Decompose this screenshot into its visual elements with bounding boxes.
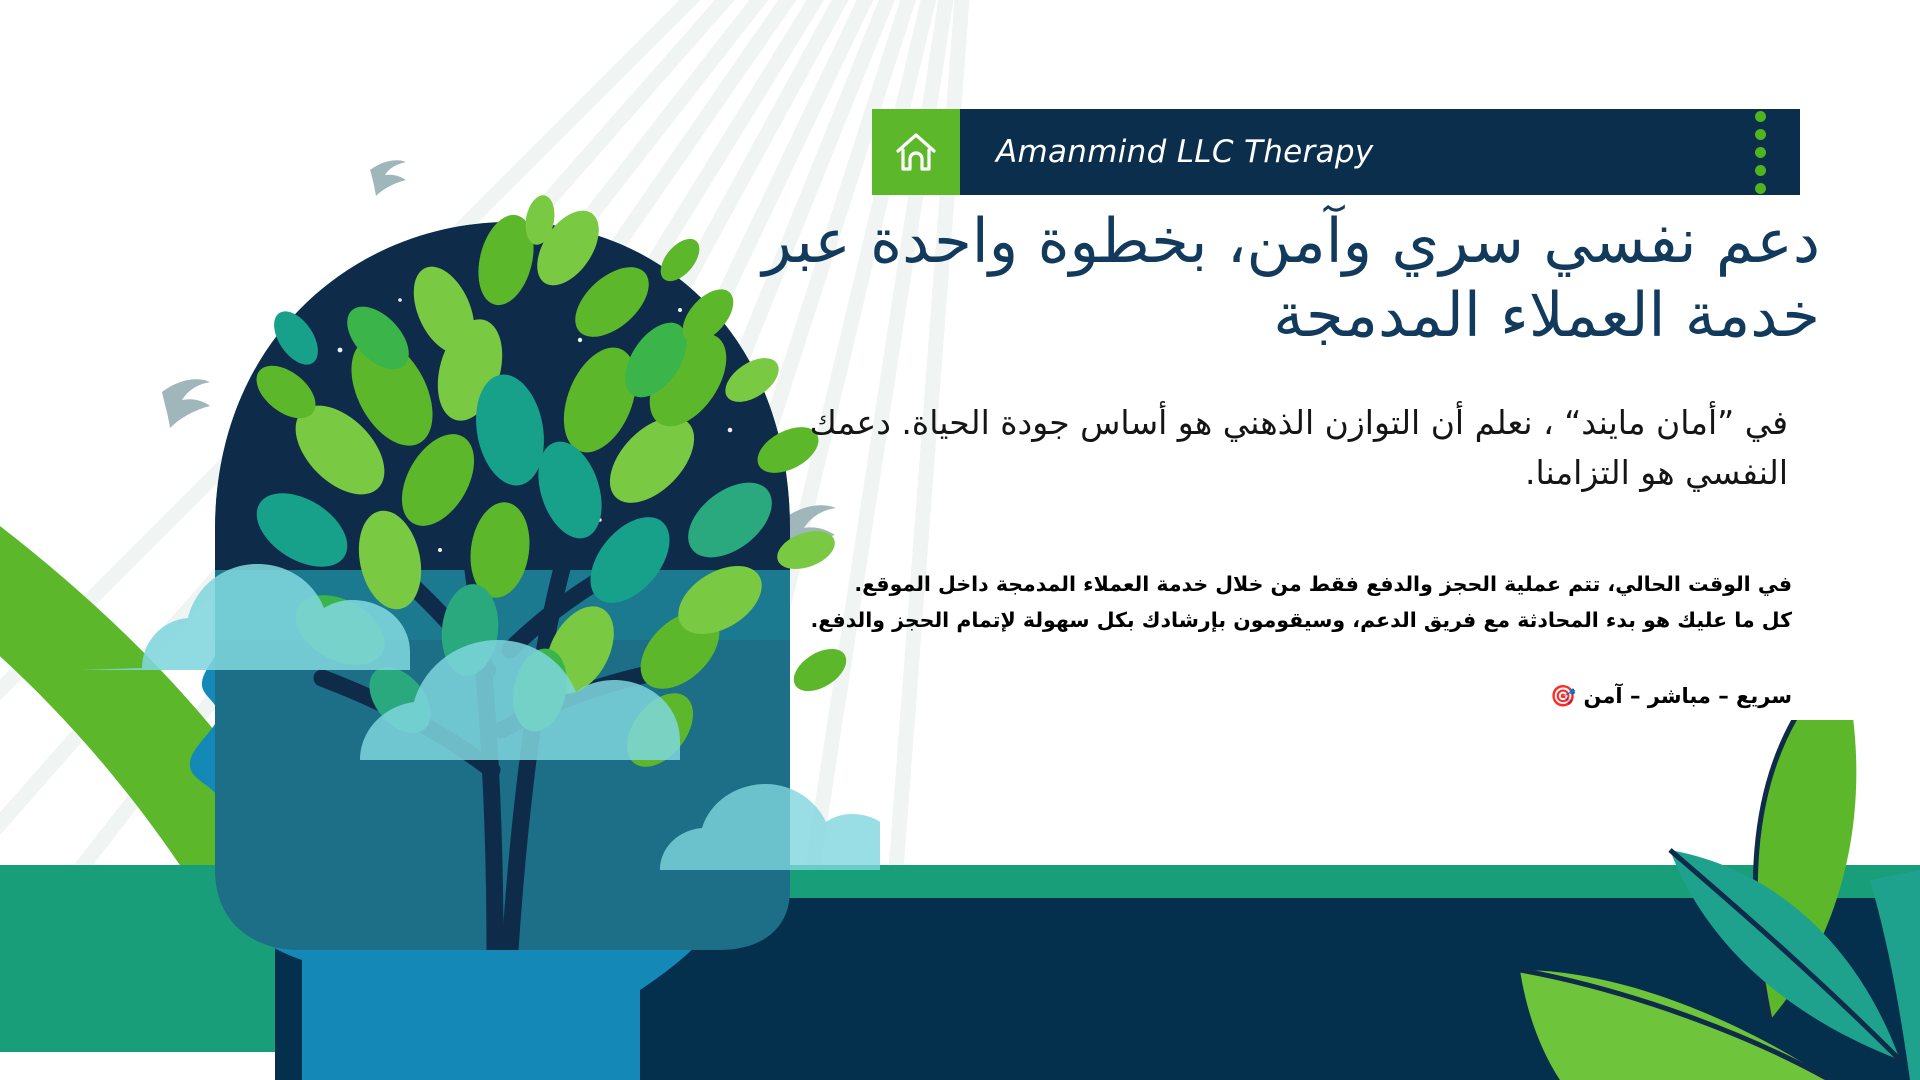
corner-leaves-decoration	[1500, 720, 1920, 1080]
bird-icon	[162, 379, 210, 428]
content-column: دعم نفسي سري وآمن، بخطوة واحدة عبر خدمة …	[730, 205, 1820, 709]
lead-paragraph: في ”أمان مايند“ ، نعلم أن التوازن الذهني…	[730, 398, 1788, 498]
app-header-bar: Amanmind LLC Therapy	[872, 109, 1800, 195]
page-title: دعم نفسي سري وآمن، بخطوة واحدة عبر خدمة …	[730, 205, 1820, 354]
notes-block: في الوقت الحالي، تتم عملية الحجز والدفع …	[730, 568, 1792, 637]
home-icon	[894, 130, 938, 174]
vertical-dots-menu-icon[interactable]	[1755, 111, 1766, 194]
bird-icon	[370, 160, 406, 196]
slide-canvas: Amanmind LLC Therapy دعم نفسي سري وآمن، …	[0, 0, 1920, 1080]
home-button[interactable]	[872, 109, 960, 195]
note-line-2: كل ما عليك هو بدء المحادثة مع فريق الدعم…	[730, 604, 1792, 637]
note-line-1: في الوقت الحالي، تتم عملية الحجز والدفع …	[730, 568, 1792, 601]
app-title: Amanmind LLC Therapy	[996, 134, 1374, 170]
tagline: سريع – مباشر – آمن 🎯	[730, 684, 1792, 709]
